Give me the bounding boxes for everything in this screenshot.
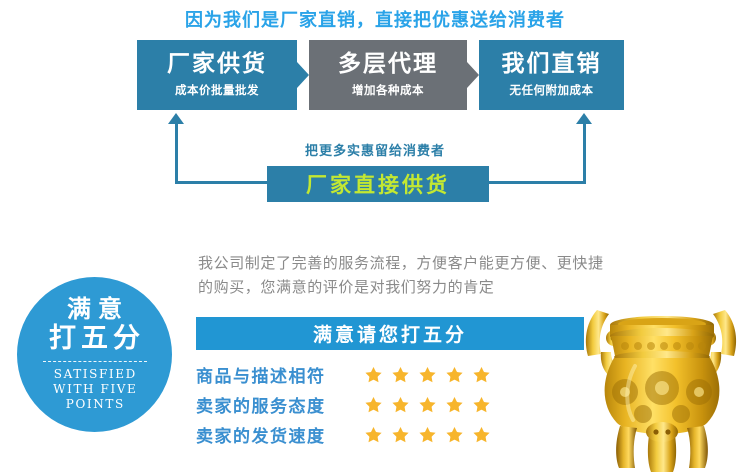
star-icon <box>470 423 493 446</box>
rating-label: 商品与描述相符 <box>196 362 356 387</box>
flow-box-multi-agent: 多层代理 增加各种成本 <box>309 40 467 110</box>
badge-line-1: 满意 <box>60 296 129 323</box>
arrow-up-icon-right <box>576 113 592 124</box>
flow-box-factory-supply: 厂家供货 成本价批量批发 <box>137 40 297 110</box>
section-heading: 因为我们是厂家直销，直接把优惠送给消费者 <box>0 6 750 32</box>
star-rating <box>362 393 493 416</box>
star-icon <box>416 393 439 416</box>
star-icon <box>443 393 466 416</box>
badge-english-line-1: SATISFIED <box>52 367 138 382</box>
mid-caption: 把更多实惠留给消费者 <box>0 140 750 159</box>
product-image-golden-censer <box>575 280 750 474</box>
service-intro-line-1: 我公司制定了完善的服务流程，方便客户能更方便、更快捷 <box>198 251 743 275</box>
rating-row: 商品与描述相符 <box>196 359 596 389</box>
connector-line-left-horizontal <box>175 181 270 184</box>
flow-box-title: 厂家供货 <box>167 52 267 77</box>
factory-direct-supply-box: 厂家直接供货 <box>267 166 489 202</box>
star-icon <box>362 423 385 446</box>
star-icon <box>362 363 385 386</box>
rating-list: 商品与描述相符 卖家的服务态度 <box>196 359 596 449</box>
star-icon <box>389 363 412 386</box>
star-icon <box>389 393 412 416</box>
star-icon <box>470 393 493 416</box>
arrow-up-icon-left <box>168 113 184 124</box>
badge-english-line-2: WITH FIVE <box>52 382 138 397</box>
flow-diagram: 厂家供货 成本价批量批发 多层代理 增加各种成本 我们直销 无任何附加成本 <box>137 40 624 110</box>
badge-english-text: SATISFIED WITH FIVE POINTS <box>52 367 138 413</box>
chevron-right-icon-1 <box>297 62 309 88</box>
flow-box-title: 多层代理 <box>338 52 438 77</box>
service-rating-section: 满意 打五分 SATISFIED WITH FIVE POINTS 我公司制定了… <box>0 225 750 474</box>
flow-box-subtitle: 增加各种成本 <box>352 82 424 98</box>
flow-box-subtitle: 无任何附加成本 <box>510 82 594 98</box>
rating-row: 卖家的发货速度 <box>196 419 596 449</box>
rate-five-stars-bar: 满意请您打五分 <box>196 317 584 350</box>
star-icon <box>416 363 439 386</box>
supply-chain-section: 因为我们是厂家直销，直接把优惠送给消费者 厂家供货 成本价批量批发 多层代理 增… <box>0 0 750 225</box>
star-icon <box>389 423 412 446</box>
star-icon <box>362 393 385 416</box>
badge-english-line-3: POINTS <box>52 397 138 412</box>
star-icon <box>470 363 493 386</box>
flow-box-subtitle: 成本价批量批发 <box>175 82 259 98</box>
flow-box-title: 我们直销 <box>502 52 602 77</box>
star-icon <box>416 423 439 446</box>
rating-row: 卖家的服务态度 <box>196 389 596 419</box>
badge-divider <box>43 361 147 362</box>
badge-line-2: 打五分 <box>44 324 145 354</box>
star-icon <box>443 423 466 446</box>
star-rating <box>362 363 493 386</box>
rating-label: 卖家的发货速度 <box>196 422 356 447</box>
rating-label: 卖家的服务态度 <box>196 392 356 417</box>
chevron-right-icon-2 <box>467 62 479 88</box>
star-icon <box>443 363 466 386</box>
flow-box-direct-sale: 我们直销 无任何附加成本 <box>479 40 624 110</box>
promo-banner: 因为我们是厂家直销，直接把优惠送给消费者 厂家供货 成本价批量批发 多层代理 增… <box>0 0 750 474</box>
connector-line-right-horizontal <box>487 181 586 184</box>
satisfaction-badge: 满意 打五分 SATISFIED WITH FIVE POINTS <box>17 277 172 432</box>
star-rating <box>362 423 493 446</box>
